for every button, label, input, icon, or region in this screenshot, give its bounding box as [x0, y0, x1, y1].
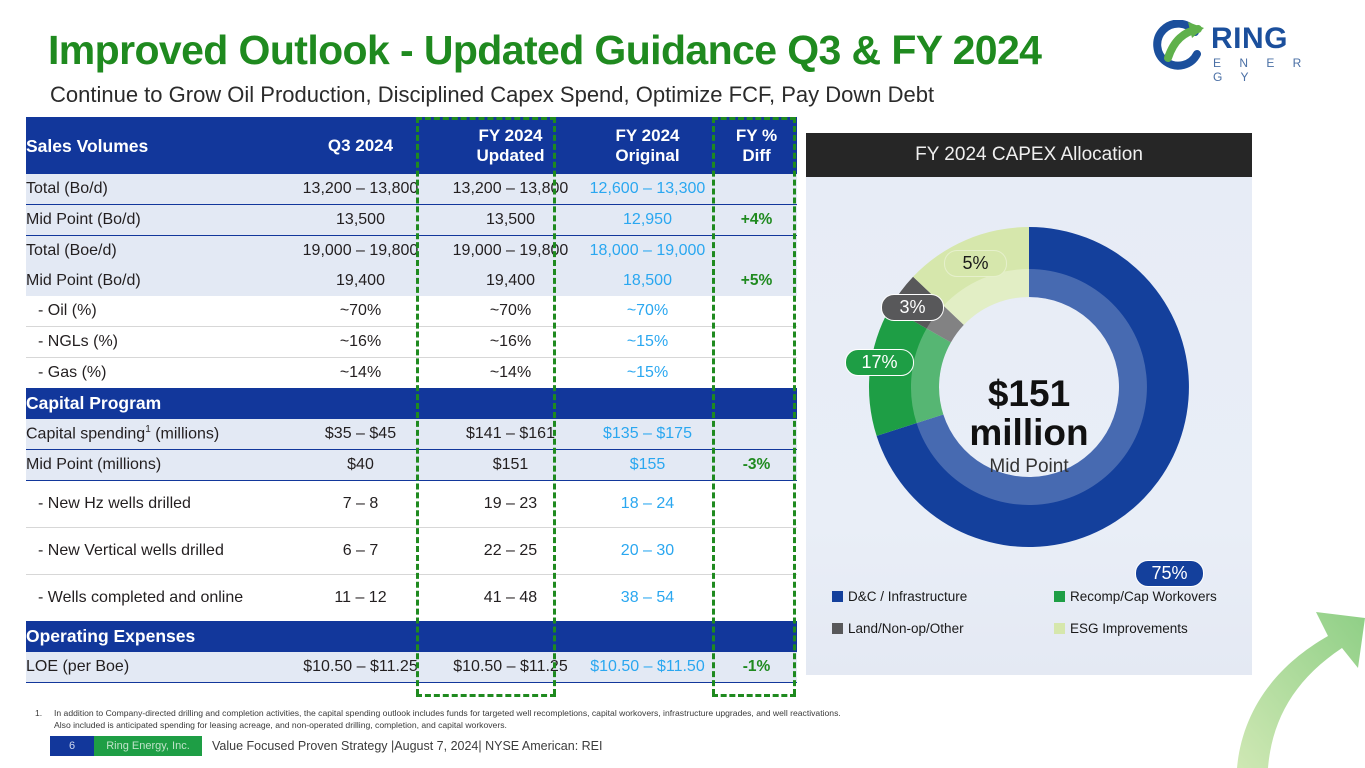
row-label: - Oil (%)	[26, 296, 279, 327]
cell-updated: 13,500	[442, 205, 579, 236]
row-label: Mid Point (millions)	[26, 450, 279, 481]
legend-item-recomp-workovers: Recomp/Cap Workovers	[1054, 589, 1234, 604]
page-subtitle: Continue to Grow Oil Production, Discipl…	[50, 82, 934, 108]
header-sales-volumes: Sales Volumes	[26, 117, 279, 174]
header-fy-pct-diff: FY % Diff	[716, 117, 797, 174]
cell-diff: -3%	[716, 450, 797, 481]
donut-label-recomp-workovers: 17%	[845, 349, 914, 376]
section-label: Operating Expenses	[26, 621, 797, 652]
table-row: LOE (per Boe) $10.50 – $11.25 $10.50 – $…	[26, 652, 797, 683]
row-label: - Wells completed and online	[26, 575, 279, 622]
cell-diff	[716, 327, 797, 358]
cell-original: 18,500	[579, 266, 716, 296]
header-fy-updated-l1: FY 2024	[442, 126, 579, 146]
cell-diff: +4%	[716, 205, 797, 236]
highlight-dash-updated-top	[416, 117, 556, 120]
highlight-dash-diff-bottom	[712, 694, 796, 697]
donut-label-land-nonop-other: 3%	[881, 294, 944, 321]
highlight-dash-diff-top	[712, 117, 796, 120]
table-row: Mid Point (millions) $40 $151 $155 -3%	[26, 450, 797, 481]
header-fy-updated: FY 2024 Updated	[442, 117, 579, 174]
cell-diff	[716, 174, 797, 205]
row-label: Total (Boe/d)	[26, 236, 279, 267]
cell-q3: $10.50 – $11.25	[279, 652, 442, 683]
cell-diff	[716, 575, 797, 622]
ring-energy-logo: RING E N E R G Y	[1148, 20, 1328, 78]
row-label: Mid Point (Bo/d)	[26, 205, 279, 236]
donut-center-label: $151 million Mid Point	[806, 375, 1252, 477]
table-header-row: Sales Volumes Q3 2024 FY 2024 Updated FY…	[26, 117, 797, 174]
capex-allocation-panel: FY 2024 CAPEX Allocation $151	[806, 133, 1252, 675]
row-label: - New Vertical wells drilled	[26, 528, 279, 575]
row-label: - NGLs (%)	[26, 327, 279, 358]
chart-title: FY 2024 CAPEX Allocation	[806, 133, 1252, 177]
header-q3-2024: Q3 2024	[279, 117, 442, 174]
section-label: Capital Program	[26, 388, 797, 419]
cell-updated: 41 – 48	[442, 575, 579, 622]
cell-diff: -1%	[716, 652, 797, 683]
highlight-dash-updated-bottom	[416, 694, 556, 697]
footnote-number: 1.	[35, 707, 42, 719]
logo-ring-arrow-icon	[1148, 20, 1210, 72]
legend-swatch-icon	[832, 591, 843, 602]
cell-updated: 22 – 25	[442, 528, 579, 575]
cell-updated: 19,400	[442, 266, 579, 296]
row-label: - New Hz wells drilled	[26, 481, 279, 528]
legend-label: Land/Non-op/Other	[848, 621, 964, 636]
chart-body: $151 million Mid Point 75% 17% 3% 5% D&C…	[806, 177, 1252, 675]
donut-label-dc-infrastructure: 75%	[1135, 560, 1204, 587]
header-fy-pct-diff-l2: Diff	[716, 146, 797, 166]
table-row: - New Vertical wells drilled 6 – 7 22 – …	[26, 528, 797, 575]
table-row: Mid Point (Bo/d) 13,500 13,500 12,950 +4…	[26, 205, 797, 236]
table-row: Total (Boe/d) 19,000 – 19,800 19,000 – 1…	[26, 236, 797, 267]
legend-label: D&C / Infrastructure	[848, 589, 967, 604]
cell-updated: $10.50 – $11.25	[442, 652, 579, 683]
cell-updated: $141 – $161	[442, 419, 579, 450]
legend-item-dc-infrastructure: D&C / Infrastructure	[832, 589, 1054, 604]
donut-label-esg-improvements: 5%	[944, 250, 1007, 277]
cell-diff	[716, 528, 797, 575]
header-fy-updated-l2: Updated	[442, 146, 579, 166]
page-number: 6	[50, 736, 94, 756]
cell-diff	[716, 419, 797, 450]
cell-q3: 13,200 – 13,800	[279, 174, 442, 205]
logo-wordmark: RING	[1211, 22, 1288, 56]
footnote: 1. In addition to Company-directed drill…	[30, 707, 845, 732]
cell-diff	[716, 481, 797, 528]
cell-original: 20 – 30	[579, 528, 716, 575]
header-fy-original-l2: Original	[579, 146, 716, 166]
cell-q3: 19,400	[279, 266, 442, 296]
cell-updated: ~70%	[442, 296, 579, 327]
cell-updated: ~16%	[442, 327, 579, 358]
cell-q3: ~16%	[279, 327, 442, 358]
table-row: Capital spending1 (millions) $35 – $45 $…	[26, 419, 797, 450]
cell-updated: 19,000 – 19,800	[442, 236, 579, 267]
cell-original: ~15%	[579, 358, 716, 389]
cell-diff	[716, 236, 797, 267]
legend-swatch-icon	[1054, 623, 1065, 634]
table-row: Total (Bo/d) 13,200 – 13,800 13,200 – 13…	[26, 174, 797, 205]
cell-updated: ~14%	[442, 358, 579, 389]
legend-swatch-icon	[1054, 591, 1065, 602]
table-row: - Wells completed and online 11 – 12 41 …	[26, 575, 797, 622]
legend-label: Recomp/Cap Workovers	[1070, 589, 1217, 604]
table-row: - Gas (%) ~14% ~14% ~15%	[26, 358, 797, 389]
cell-original: 12,600 – 13,300	[579, 174, 716, 205]
cell-q3: 13,500	[279, 205, 442, 236]
table-row: - New Hz wells drilled 7 – 8 19 – 23 18 …	[26, 481, 797, 528]
growth-arrow-icon	[1232, 596, 1365, 768]
cell-original: ~15%	[579, 327, 716, 358]
cell-q3: $40	[279, 450, 442, 481]
row-label: LOE (per Boe)	[26, 652, 279, 683]
cell-diff	[716, 358, 797, 389]
cell-original: 18 – 24	[579, 481, 716, 528]
row-label: Mid Point (Bo/d)	[26, 266, 279, 296]
cell-q3: ~70%	[279, 296, 442, 327]
header-fy-original-l1: FY 2024	[579, 126, 716, 146]
legend-label: ESG Improvements	[1070, 621, 1188, 636]
cell-original: ~70%	[579, 296, 716, 327]
cell-q3: 6 – 7	[279, 528, 442, 575]
donut-chart: $151 million Mid Point 75% 17% 3% 5%	[806, 177, 1252, 597]
company-name: Ring Energy, Inc.	[94, 736, 202, 756]
cell-original: 12,950	[579, 205, 716, 236]
capex-unit: million	[806, 414, 1252, 453]
cell-original: $10.50 – $11.50	[579, 652, 716, 683]
header-fy-pct-diff-l1: FY %	[716, 126, 797, 146]
cell-q3: ~14%	[279, 358, 442, 389]
cell-q3: 19,000 – 19,800	[279, 236, 442, 267]
section-header-operating-expenses: Operating Expenses	[26, 621, 797, 652]
cell-original: 38 – 54	[579, 575, 716, 622]
cell-diff	[716, 296, 797, 327]
logo-subwordmark: E N E R G Y	[1213, 56, 1328, 84]
legend-swatch-icon	[832, 623, 843, 634]
chart-legend: D&C / Infrastructure Recomp/Cap Workover…	[832, 589, 1232, 636]
legend-item-land-nonop-other: Land/Non-op/Other	[832, 621, 1054, 636]
page-title: Improved Outlook - Updated Guidance Q3 &…	[48, 27, 1041, 74]
cell-original: 18,000 – 19,000	[579, 236, 716, 267]
table-row: - Oil (%) ~70% ~70% ~70%	[26, 296, 797, 327]
table-row: - NGLs (%) ~16% ~16% ~15%	[26, 327, 797, 358]
cell-updated: 13,200 – 13,800	[442, 174, 579, 205]
legend-item-esg-improvements: ESG Improvements	[1054, 621, 1234, 636]
cell-original: $135 – $175	[579, 419, 716, 450]
row-label: Capital spending1 (millions)	[26, 419, 279, 450]
header-fy-original: FY 2024 Original	[579, 117, 716, 174]
cell-diff: +5%	[716, 266, 797, 296]
capex-midpoint-label: Mid Point	[806, 457, 1252, 477]
cell-q3: 7 – 8	[279, 481, 442, 528]
row-label: - Gas (%)	[26, 358, 279, 389]
cell-q3: $35 – $45	[279, 419, 442, 450]
footnote-text: In addition to Company-directed drilling…	[30, 707, 845, 732]
cell-q3: 11 – 12	[279, 575, 442, 622]
section-header-capital-program: Capital Program	[26, 388, 797, 419]
capex-amount: $151	[806, 375, 1252, 414]
footer: 6 Ring Energy, Inc. Value Focused Proven…	[50, 736, 603, 756]
footer-tagline: Value Focused Proven Strategy |August 7,…	[212, 739, 603, 753]
guidance-table: Sales Volumes Q3 2024 FY 2024 Updated FY…	[26, 117, 797, 683]
cell-updated: 19 – 23	[442, 481, 579, 528]
table-row: Mid Point (Bo/d) 19,400 19,400 18,500 +5…	[26, 266, 797, 296]
row-label: Total (Bo/d)	[26, 174, 279, 205]
cell-updated: $151	[442, 450, 579, 481]
cell-original: $155	[579, 450, 716, 481]
